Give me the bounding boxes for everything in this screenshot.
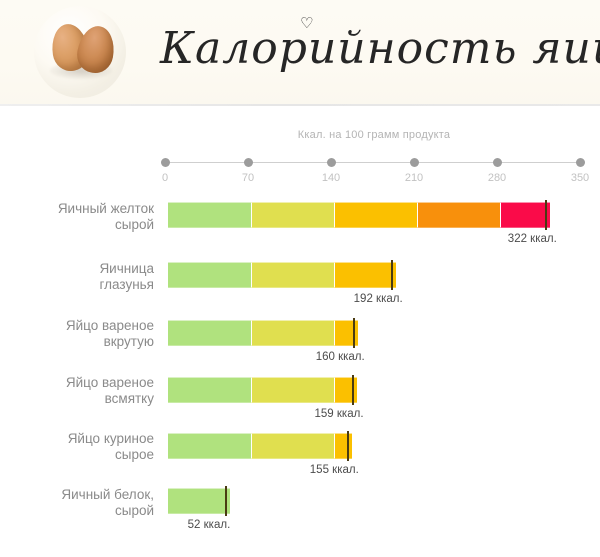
row-label-line: Яичный белок,	[8, 487, 154, 503]
row-label-line: сырой	[8, 217, 154, 233]
bar-segment	[168, 262, 251, 288]
bar-value-label: 160 ккал.	[316, 351, 365, 363]
bar-segment	[168, 433, 251, 459]
chart-rows: Яичный желтоксырой322 ккал.Яичницаглазун…	[0, 0, 600, 557]
bar-segment	[334, 202, 417, 228]
bar-segment	[251, 377, 334, 403]
bar-end-marker	[545, 200, 547, 230]
bar-value-label: 322 ккал.	[508, 233, 557, 245]
bar-segment	[500, 202, 550, 228]
row-label-line: вкрутую	[8, 334, 154, 350]
bar-end-marker	[391, 260, 393, 290]
value-bar	[168, 262, 393, 288]
bar-end-marker	[225, 486, 227, 516]
row-label-line: глазунья	[8, 277, 154, 293]
bar-segment	[251, 262, 334, 288]
row-label: Яичницаглазунья	[8, 261, 154, 293]
bar-value-label: 52 ккал.	[188, 519, 231, 531]
bar-segment	[417, 202, 500, 228]
row-label: Яичный желтоксырой	[8, 201, 154, 233]
row-label: Яйцо вареноевкрутую	[8, 318, 154, 350]
row-label: Яичный белок,сырой	[8, 487, 154, 519]
value-bar	[168, 202, 547, 228]
bar-segment	[168, 202, 251, 228]
row-label-line: Яйцо куриное	[8, 431, 154, 447]
bar-end-marker	[347, 431, 349, 461]
bar-segment	[251, 202, 334, 228]
row-label-line: всмятку	[8, 391, 154, 407]
bar-value-label: 155 ккал.	[310, 464, 359, 476]
bar-segment	[168, 488, 230, 514]
value-bar	[168, 377, 354, 403]
bar-segment	[334, 433, 352, 459]
bar-segment	[334, 262, 396, 288]
row-label-line: Яичный желток	[8, 201, 154, 217]
bar-segment	[168, 320, 251, 346]
row-label-line: сырой	[8, 503, 154, 519]
value-bar	[168, 433, 349, 459]
bar-value-label: 159 ккал.	[315, 408, 364, 420]
row-label-line: Яичница	[8, 261, 154, 277]
bar-segment	[251, 320, 334, 346]
row-label: Яйцо вареноевсмятку	[8, 375, 154, 407]
row-label: Яйцо куриноесырое	[8, 431, 154, 463]
bar-value-label: 192 ккал.	[354, 293, 403, 305]
value-bar	[168, 320, 355, 346]
bar-segment	[251, 433, 334, 459]
row-label-line: сырое	[8, 447, 154, 463]
bar-end-marker	[352, 375, 354, 405]
value-bar	[168, 488, 227, 514]
row-label-line: Яйцо вареное	[8, 375, 154, 391]
row-label-line: Яйцо вареное	[8, 318, 154, 334]
bar-end-marker	[353, 318, 355, 348]
bar-segment	[168, 377, 251, 403]
